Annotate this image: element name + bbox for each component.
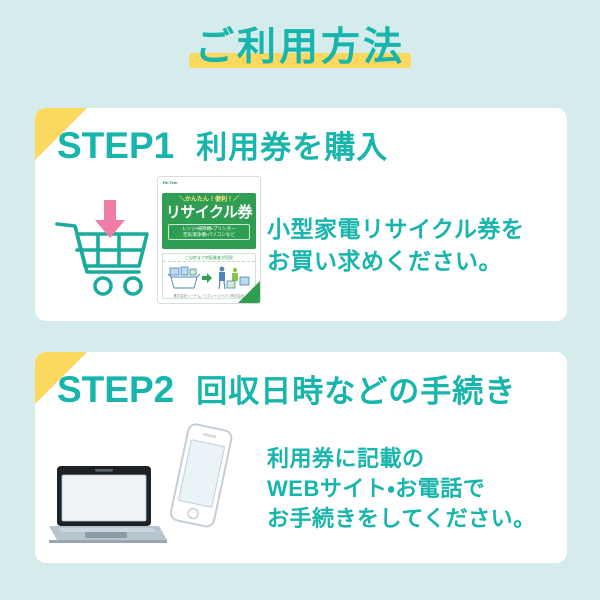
package-corner-decoration bbox=[238, 281, 260, 303]
step-2-text: 利用券に記載の WEBサイト・お電話で お手続きをしてください。 bbox=[267, 444, 567, 534]
step-2-body: 利用券に記載の WEBサイト・お電話で お手続きをしてください。 bbox=[35, 414, 567, 563]
step-1-header: STEP1 利用券を購入 bbox=[57, 122, 388, 167]
step-2-illustration bbox=[35, 414, 267, 563]
package-sub-line-2: 空気清浄機・パソコンなど bbox=[169, 232, 249, 238]
package-main-text: リサイクル券 bbox=[162, 204, 256, 222]
page-title: ご利用方法 bbox=[0, 24, 600, 84]
package-lower-caption: ご自宅まで宅配業者が回収 bbox=[163, 254, 255, 262]
step-1-title: 利用券を購入 bbox=[196, 122, 388, 167]
step-2-body-line-1: 利用券に記載の bbox=[267, 444, 557, 474]
step-1-illustration: Re:Tem ＼かんたん！便利！／ リサイクル券 レンジ・掃除機・プリンター 空… bbox=[35, 170, 267, 320]
recycle-ticket-package: Re:Tem ＼かんたん！便利！／ リサイクル券 レンジ・掃除機・プリンター 空… bbox=[157, 176, 261, 304]
step-1-text: 小型家電リサイクル券を お買い求めください。 bbox=[267, 213, 567, 277]
package-brand: Re:Tem bbox=[163, 180, 177, 185]
step-card-2: STEP2 回収日時などの手続き bbox=[35, 352, 567, 563]
step-2-body-line-2: WEBサイト・お電話で bbox=[267, 474, 557, 504]
box-illustration-icon bbox=[167, 265, 201, 291]
step-1-body-line-2: お買い求めください。 bbox=[267, 245, 557, 277]
package-catchcopy: ＼かんたん！便利！／ bbox=[162, 196, 256, 204]
step-2-body-line-3: お手続きをしてください。 bbox=[267, 504, 557, 534]
step-2-title: 回収日時などの手続き bbox=[196, 366, 516, 411]
step-1-body-line-1: 小型家電リサイクル券を bbox=[267, 213, 557, 245]
step-2-header: STEP2 回収日時などの手続き bbox=[57, 366, 516, 411]
step-1-body: Re:Tem ＼かんたん！便利！／ リサイクル券 レンジ・掃除機・プリンター 空… bbox=[35, 170, 567, 320]
step-card-1: STEP1 利用券を購入 bbox=[35, 108, 567, 321]
step-1-label: STEP1 bbox=[57, 125, 174, 167]
laptop-icon bbox=[49, 462, 167, 544]
smartphone-icon bbox=[159, 420, 239, 532]
green-arrow-icon bbox=[202, 273, 212, 283]
infographic-page: ご利用方法 STEP1 利用券を購入 bbox=[0, 0, 600, 600]
page-title-text: ご利用方法 bbox=[195, 26, 405, 69]
step-2-label: STEP2 bbox=[57, 369, 174, 411]
shopping-cart-icon bbox=[53, 194, 157, 298]
